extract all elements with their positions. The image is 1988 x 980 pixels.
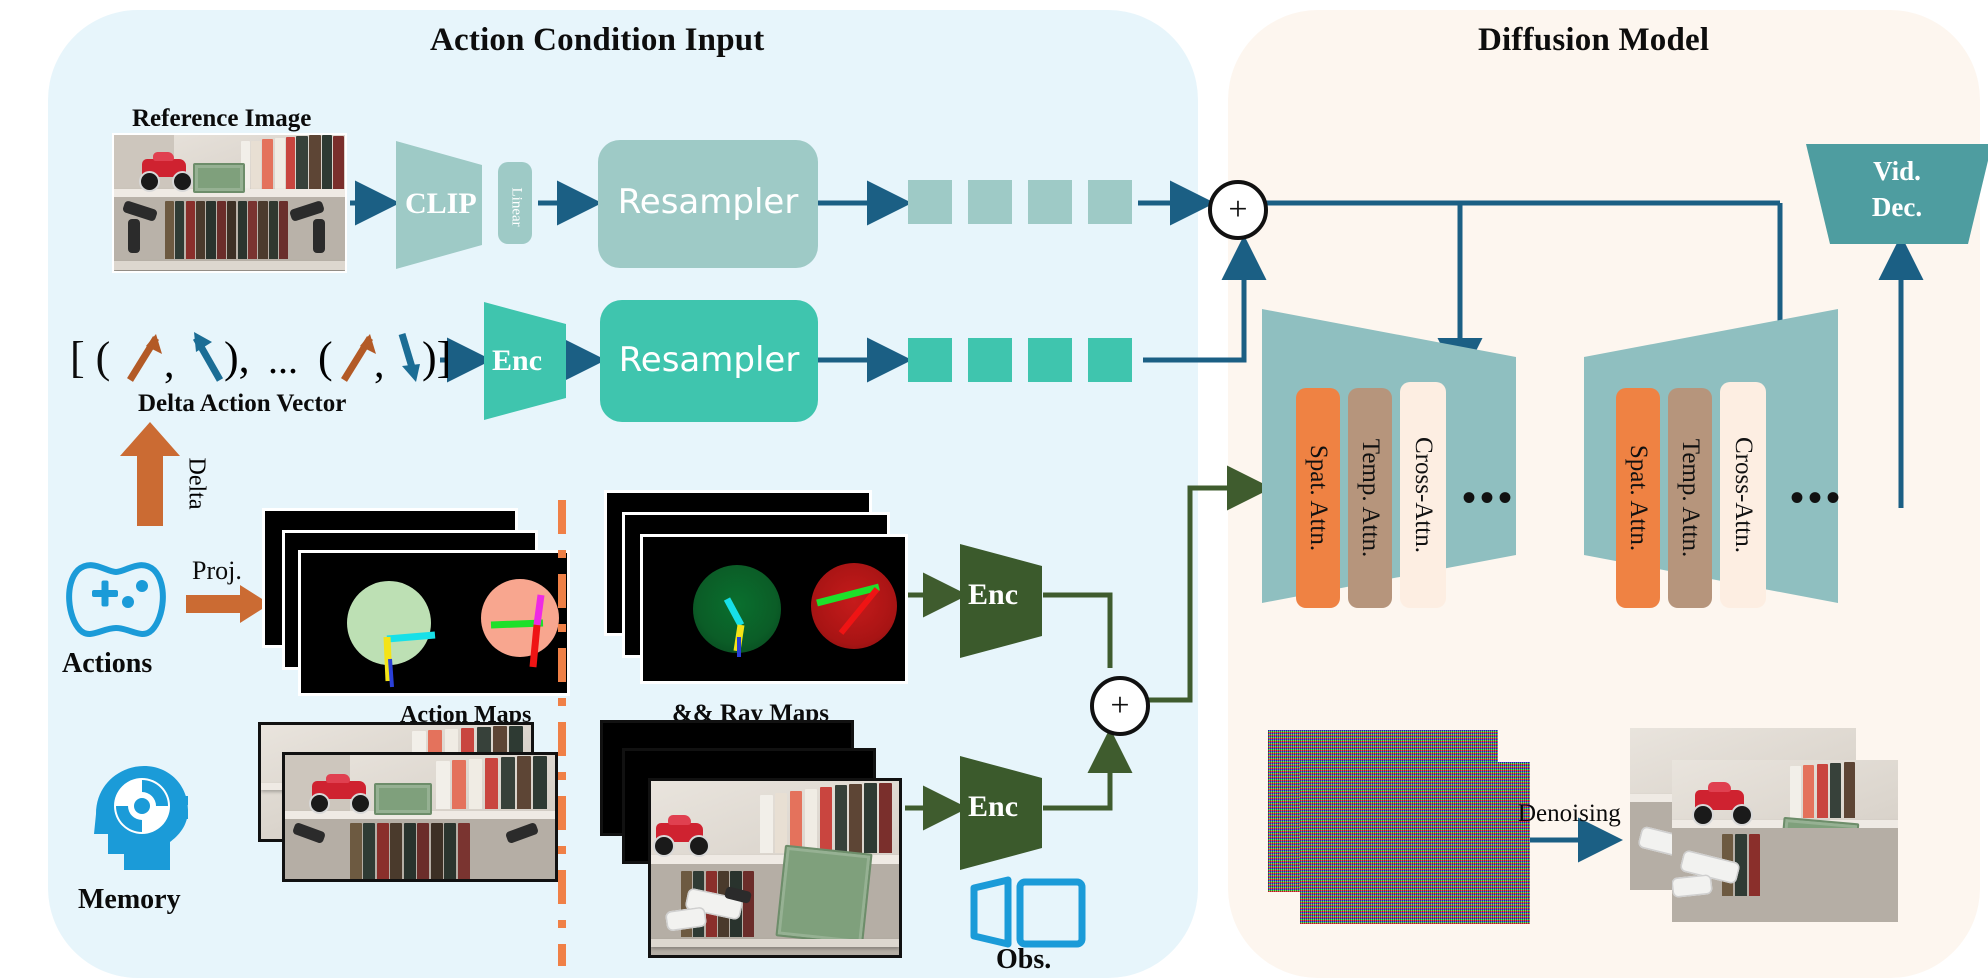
- delta-vector-open: [ (: [70, 332, 110, 383]
- temporal-attention-block-2: Temp. Attn.: [1668, 388, 1712, 608]
- cross-attention-block-2: Cross-Attn.: [1720, 382, 1766, 608]
- image-token-2: [968, 180, 1012, 224]
- clip-label: CLIP: [405, 187, 477, 221]
- delta-vector-close-pair: ),: [224, 332, 250, 383]
- temporal-attention-block-1: Temp. Attn.: [1348, 388, 1392, 608]
- delta-label: Delta: [182, 458, 209, 510]
- arrow-up-right-icon-1: [124, 328, 168, 388]
- denoising-label: Denoising: [1518, 800, 1621, 828]
- memory-label: Memory: [78, 884, 181, 916]
- gamepad-icon: [56, 556, 176, 646]
- image-token-4: [1088, 180, 1132, 224]
- delta-vector-ellipsis: ...: [268, 336, 298, 383]
- delta-action-vector-label: Delta Action Vector: [138, 390, 346, 418]
- ray-map-axes-right: [799, 555, 919, 665]
- spatial-attention-label-2: Spat. Attn.: [1624, 445, 1652, 551]
- obs-clean-frame-1: [648, 778, 902, 958]
- action-token-2: [968, 338, 1012, 382]
- ray-map-axes-left: [693, 565, 803, 675]
- linear-label: Linear: [508, 188, 525, 222]
- ray-map-frame-1: [640, 534, 908, 684]
- spatial-attention-block-1: Spat. Attn.: [1296, 388, 1340, 608]
- enc-action-label: Enc: [492, 344, 542, 378]
- spatial-attention-label-1: Spat. Attn.: [1304, 445, 1332, 551]
- action-map-axes-left: [347, 581, 457, 691]
- delta-vector-close: )]: [422, 332, 451, 383]
- memory-brain-icon: [78, 758, 198, 878]
- camera-icon: [968, 878, 1088, 950]
- delta-vector-comma-2: ,: [374, 340, 385, 388]
- spatial-attention-block-2: Spat. Attn.: [1616, 388, 1660, 608]
- proj-arrow-icon: [186, 585, 272, 627]
- denoise-output-frame-front: [1672, 760, 1898, 922]
- proj-label: Proj.: [192, 556, 242, 586]
- image-token-1: [908, 180, 952, 224]
- action-token-4: [1088, 338, 1132, 382]
- section-divider-dashed: [558, 500, 566, 966]
- resampler-action-label: Resampler: [600, 340, 818, 380]
- temporal-attention-label-2: Temp. Attn.: [1676, 439, 1704, 557]
- resampler-image-label: Resampler: [598, 182, 818, 222]
- cross-attention-label-2: Cross-Attn.: [1729, 437, 1757, 553]
- delta-arrow-icon: [118, 422, 188, 532]
- video-decoder-label-1: Vid.: [1802, 156, 1988, 187]
- action-token-3: [1028, 338, 1072, 382]
- cross-attention-block-1: Cross-Attn.: [1400, 382, 1446, 608]
- temporal-attention-label-1: Temp. Attn.: [1356, 439, 1384, 557]
- unet-ellipsis-2: •••: [1790, 478, 1844, 518]
- cross-attention-label-1: Cross-Attn.: [1409, 437, 1437, 553]
- memory-frame-front: [282, 752, 558, 882]
- unet-ellipsis-1: •••: [1462, 478, 1516, 518]
- denoise-input-frame-front: [1300, 762, 1530, 924]
- actions-label: Actions: [62, 648, 152, 680]
- action-map-frame-1: [298, 550, 570, 696]
- enc-maps-label: Enc: [968, 578, 1018, 612]
- plus-node-conditioning: +: [1208, 180, 1268, 240]
- action-token-1: [908, 338, 952, 382]
- delta-vector-open-2: (: [318, 332, 333, 383]
- plus-node-latent: +: [1090, 676, 1150, 736]
- delta-vector-comma-1: ,: [164, 340, 175, 388]
- enc-obs-label: Enc: [968, 790, 1018, 824]
- video-decoder-label-2: Dec.: [1802, 192, 1988, 223]
- image-token-3: [1028, 180, 1072, 224]
- obs-label: Obs.: [996, 944, 1051, 976]
